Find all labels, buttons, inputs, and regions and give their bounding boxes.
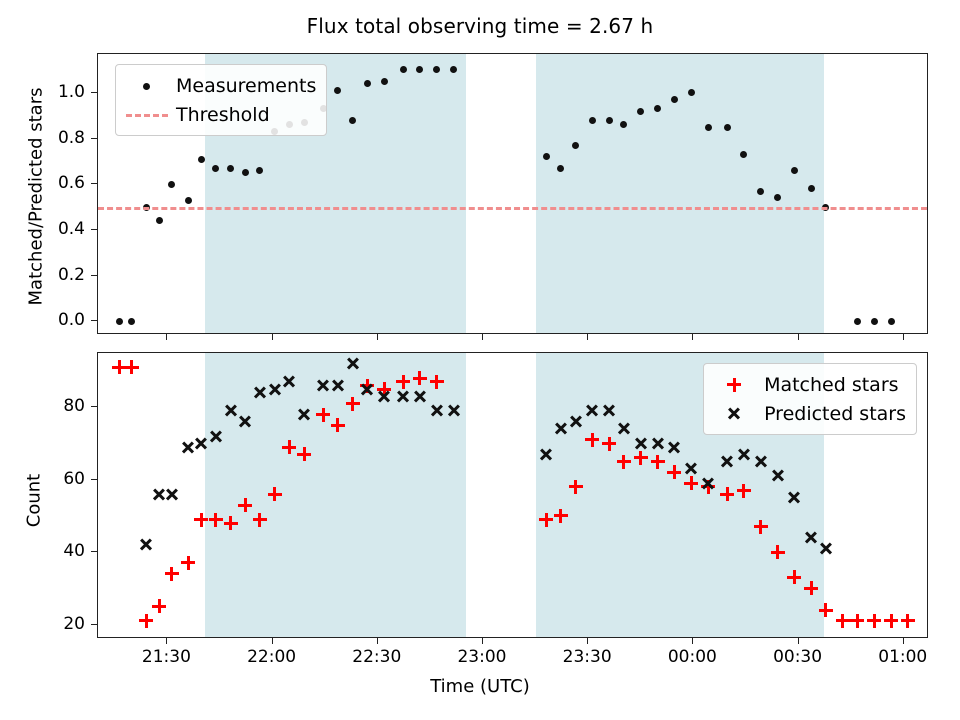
legend-item-predicted-stars: Predicted stars: [712, 399, 906, 428]
data-point: [808, 185, 815, 192]
data-point: [128, 318, 135, 325]
x-tick: [798, 334, 799, 340]
y-tick-label: 80: [63, 396, 85, 416]
x-tick: [272, 638, 273, 644]
x-axis-ticks-top: [97, 334, 928, 344]
legend-ratio-panel: Measurements Threshold: [115, 64, 327, 136]
data-point: [589, 117, 596, 124]
legend-label-threshold: Threshold: [170, 104, 270, 126]
count-panel-axes: Matched stars Predicted stars: [97, 352, 928, 638]
legend-item-measurements: Measurements: [124, 71, 316, 100]
x-tick: [903, 638, 904, 644]
data-point: [227, 165, 234, 172]
data-point: [572, 142, 579, 149]
data-point: [364, 80, 371, 87]
ratio-panel-axes: Measurements Threshold: [97, 53, 928, 334]
data-point: [854, 318, 861, 325]
data-point: [757, 188, 764, 195]
x-tick: [166, 638, 167, 644]
legend-label-measurements: Measurements: [170, 75, 316, 97]
y-tick-label: 0.4: [58, 219, 85, 239]
data-point: [349, 117, 356, 124]
x-tick: [482, 334, 483, 340]
data-point: [791, 167, 798, 174]
page-title: Flux total observing time = 2.67 h: [0, 14, 960, 38]
legend-label-matched-stars: Matched stars: [758, 374, 898, 396]
x-tick: [272, 334, 273, 340]
data-point: [212, 165, 219, 172]
y-tick-label: 20: [63, 614, 85, 634]
x-axis-label: Time (UTC): [0, 676, 960, 697]
y-tick-label: 0.0: [58, 310, 85, 330]
data-point: [606, 117, 613, 124]
data-point: [198, 156, 205, 163]
y-tick-label: 60: [63, 469, 85, 489]
measurements-dot-icon: [124, 76, 170, 96]
y-axis-ticks-top: 0.00.20.40.60.81.0: [0, 53, 97, 334]
y-tick-label: 40: [63, 541, 85, 561]
x-tick: [587, 638, 588, 644]
data-point: [116, 318, 123, 325]
x-tick-label: 01:00: [878, 647, 927, 667]
legend-count-panel: Matched stars Predicted stars: [703, 363, 917, 435]
legend-item-matched-stars: Matched stars: [712, 370, 906, 399]
x-tick-label: 21:30: [142, 647, 191, 667]
data-point: [637, 108, 644, 115]
y-axis-ticks-bottom: 20406080: [0, 352, 97, 638]
x-tick: [377, 334, 378, 340]
threshold-dash-icon: [124, 105, 170, 125]
data-point: [168, 181, 175, 188]
y-tick-label: 0.2: [58, 265, 85, 285]
x-axis-ticks-bottom: 21:3022:0022:3023:0023:3000:0000:3001:00: [97, 638, 928, 672]
y-tick-label: 0.8: [58, 128, 85, 148]
x-tick-label: 22:00: [247, 647, 296, 667]
x-tick: [692, 638, 693, 644]
x-tick: [798, 638, 799, 644]
x-tick: [587, 334, 588, 340]
legend-item-threshold: Threshold: [124, 100, 316, 129]
x-tick-label: 23:00: [457, 647, 506, 667]
data-point: [381, 78, 388, 85]
data-point: [888, 318, 895, 325]
x-tick-label: 00:30: [773, 647, 822, 667]
data-point: [543, 153, 550, 160]
x-tick: [692, 334, 693, 340]
x-tick-label: 00:00: [668, 647, 717, 667]
x-tick-label: 22:30: [352, 647, 401, 667]
y-tick-label: 0.6: [58, 173, 85, 193]
threshold-line: [98, 207, 927, 210]
data-point: [185, 197, 192, 204]
data-point: [156, 217, 163, 224]
x-tick: [166, 334, 167, 340]
shaded-band: [536, 54, 824, 333]
figure-container: Flux total observing time = 2.67 h Match…: [0, 0, 960, 720]
data-point: [705, 124, 712, 131]
matched-stars-plus-icon: [712, 375, 758, 395]
legend-label-predicted-stars: Predicted stars: [758, 403, 906, 425]
x-tick: [377, 638, 378, 644]
x-tick-label: 23:30: [563, 647, 612, 667]
shaded-band: [205, 353, 466, 637]
data-point: [242, 169, 249, 176]
data-point: [871, 318, 878, 325]
y-tick-label: 1.0: [58, 82, 85, 102]
x-tick: [903, 334, 904, 340]
predicted-stars-cross-icon: [712, 404, 758, 424]
data-point: [724, 124, 731, 131]
x-tick: [482, 638, 483, 644]
